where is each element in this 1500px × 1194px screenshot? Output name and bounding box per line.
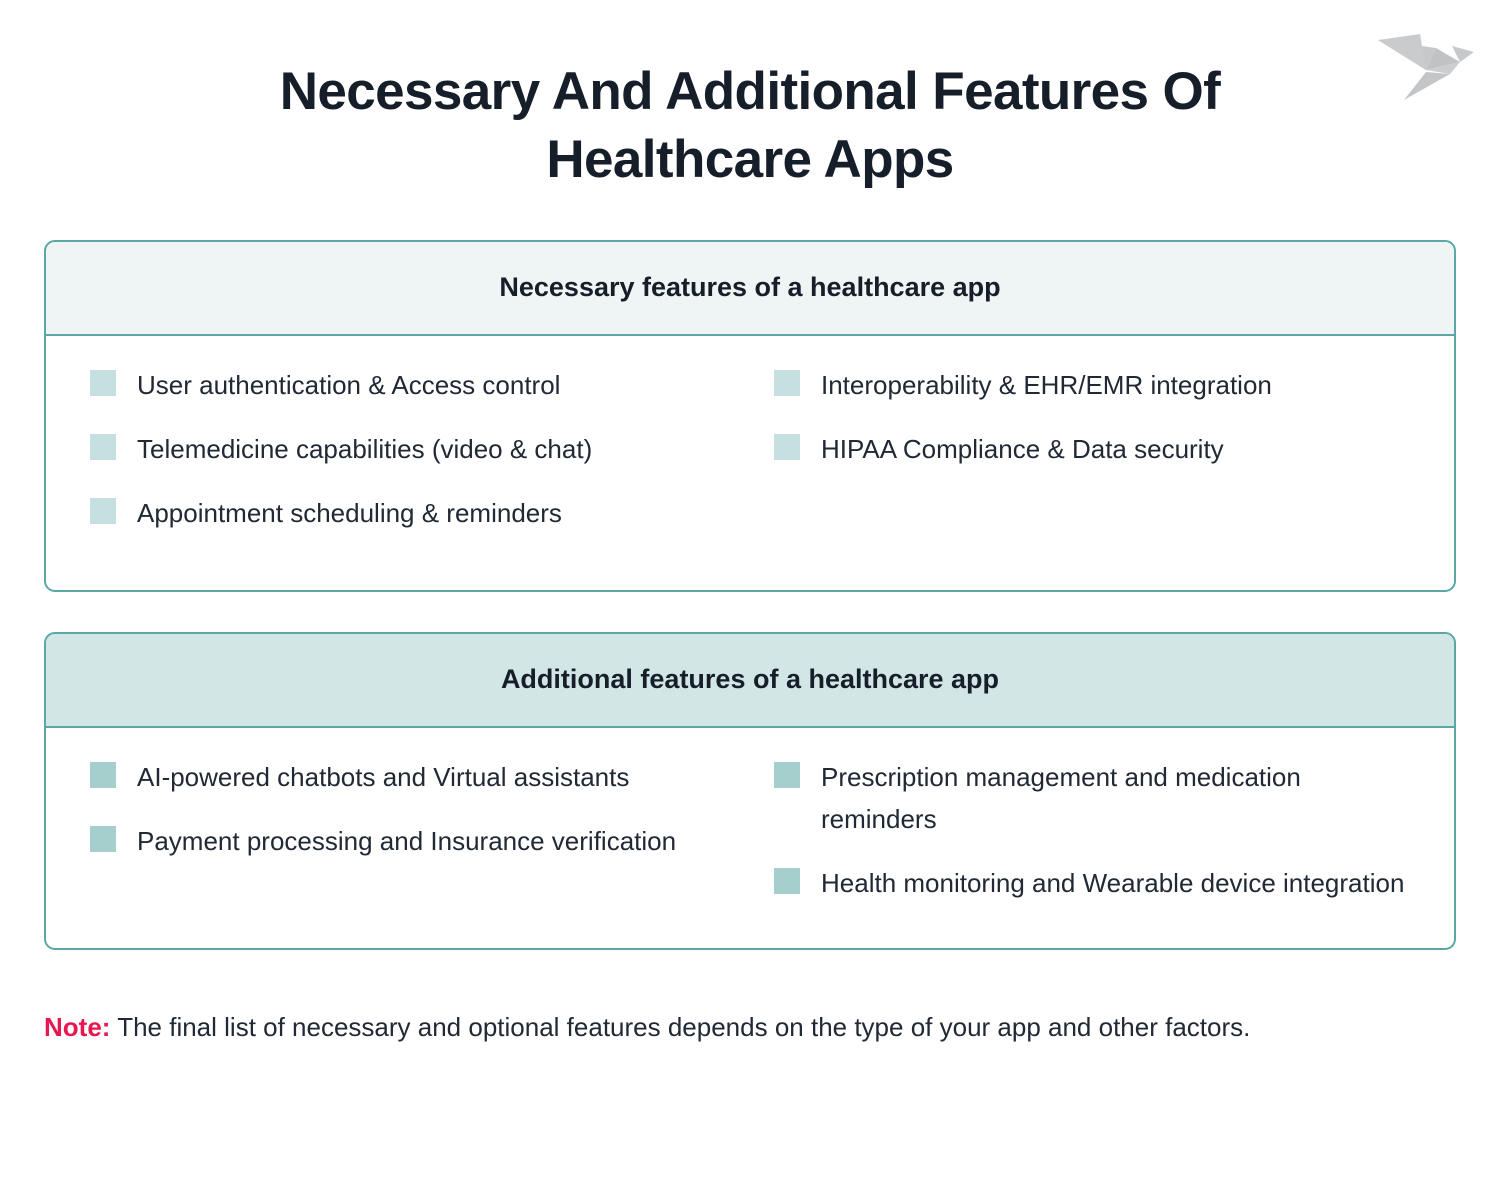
necessary-left-column: User authentication & Access control Tel…: [90, 364, 750, 534]
list-item: Telemedicine capabilities (video & chat): [90, 428, 750, 470]
note-body: The final list of necessary and optional…: [110, 1012, 1250, 1042]
panel-additional-features: Additional features of a healthcare app …: [44, 632, 1456, 950]
feature-label: Telemedicine capabilities (video & chat): [137, 428, 592, 470]
page-title: Necessary And Additional Features Of Hea…: [0, 0, 1500, 194]
list-item: Health monitoring and Wearable device in…: [774, 862, 1410, 904]
origami-bird-logo: [1374, 18, 1478, 102]
feature-label: User authentication & Access control: [137, 364, 560, 406]
feature-label: Health monitoring and Wearable device in…: [821, 862, 1404, 904]
square-bullet-icon: [774, 370, 800, 396]
square-bullet-icon: [90, 434, 116, 460]
panel-additional-body: AI-powered chatbots and Virtual assistan…: [46, 728, 1454, 948]
additional-left-column: AI-powered chatbots and Virtual assistan…: [90, 756, 750, 904]
note-text: Note: The final list of necessary and op…: [0, 976, 1500, 1048]
square-bullet-icon: [90, 498, 116, 524]
feature-label: Prescription management and medication r…: [821, 756, 1410, 840]
note-label: Note:: [44, 1012, 110, 1042]
feature-label: Payment processing and Insurance verific…: [137, 820, 676, 862]
feature-label: Appointment scheduling & reminders: [137, 492, 562, 534]
list-item: Prescription management and medication r…: [774, 756, 1410, 840]
square-bullet-icon: [774, 762, 800, 788]
list-item: Appointment scheduling & reminders: [90, 492, 750, 534]
list-item: HIPAA Compliance & Data security: [774, 428, 1410, 470]
square-bullet-icon: [90, 762, 116, 788]
list-item: Payment processing and Insurance verific…: [90, 820, 750, 862]
panel-necessary-body: User authentication & Access control Tel…: [46, 336, 1454, 590]
feature-label: HIPAA Compliance & Data security: [821, 428, 1224, 470]
list-item: User authentication & Access control: [90, 364, 750, 406]
square-bullet-icon: [774, 868, 800, 894]
panels-container: Necessary features of a healthcare app U…: [0, 240, 1500, 951]
panel-necessary-header: Necessary features of a healthcare app: [46, 242, 1454, 336]
panel-additional-header: Additional features of a healthcare app: [46, 634, 1454, 728]
square-bullet-icon: [90, 826, 116, 852]
square-bullet-icon: [90, 370, 116, 396]
list-item: AI-powered chatbots and Virtual assistan…: [90, 756, 750, 798]
feature-label: Interoperability & EHR/EMR integration: [821, 364, 1272, 406]
necessary-right-column: Interoperability & EHR/EMR integration H…: [750, 364, 1410, 534]
square-bullet-icon: [774, 434, 800, 460]
infographic-page: Necessary And Additional Features Of Hea…: [0, 0, 1500, 1194]
feature-label: AI-powered chatbots and Virtual assistan…: [137, 756, 629, 798]
list-item: Interoperability & EHR/EMR integration: [774, 364, 1410, 406]
additional-right-column: Prescription management and medication r…: [750, 756, 1410, 904]
panel-necessary-features: Necessary features of a healthcare app U…: [44, 240, 1456, 592]
